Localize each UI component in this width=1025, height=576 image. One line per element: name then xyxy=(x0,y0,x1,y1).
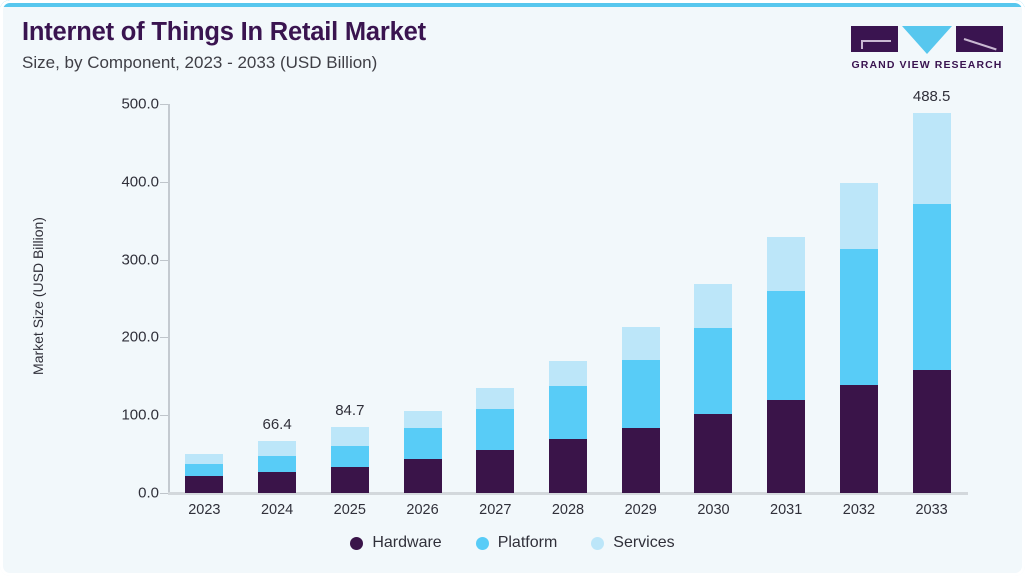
y-axis-tick-label: 400.0 xyxy=(69,173,159,190)
bar-segment-services[interactable] xyxy=(694,284,732,328)
x-axis-tick-label: 2028 xyxy=(533,502,603,518)
logo-triangle-icon xyxy=(902,26,952,54)
y-axis-title: Market Size (USD Billion) xyxy=(30,166,46,426)
logo-wordmark: GRAND VIEW RESEARCH xyxy=(851,59,1003,71)
top-accent-bar xyxy=(0,0,1025,7)
bar-segment-platform[interactable] xyxy=(476,409,514,450)
bar-group[interactable] xyxy=(694,90,732,493)
bar-value-label: 66.4 xyxy=(262,416,291,433)
legend-swatch-icon xyxy=(591,537,604,550)
y-axis-tick-mark xyxy=(160,104,168,105)
bar-group[interactable] xyxy=(622,90,660,493)
bar-segment-services[interactable] xyxy=(622,327,660,360)
grand-view-research-logo: GRAND VIEW RESEARCH xyxy=(851,26,1003,71)
bar-segment-platform[interactable] xyxy=(549,386,587,439)
bar-segment-platform[interactable] xyxy=(913,204,951,371)
legend-item-services[interactable]: Services xyxy=(591,534,674,552)
x-axis-tick-label: 2031 xyxy=(751,502,821,518)
y-axis-tick-label: 500.0 xyxy=(69,96,159,113)
legend-item-hardware[interactable]: Hardware xyxy=(350,534,441,552)
x-axis-tick-label: 2029 xyxy=(606,502,676,518)
y-axis-tick-mark xyxy=(160,182,168,183)
bar-segment-services[interactable] xyxy=(549,361,587,387)
bar-segment-platform[interactable] xyxy=(694,328,732,414)
bar-segment-services[interactable] xyxy=(767,237,805,291)
legend-label: Services xyxy=(613,534,674,552)
bar-segment-services[interactable] xyxy=(185,454,223,464)
bar-series-container: 66.484.7488.5 xyxy=(168,90,968,493)
bar-segment-hardware[interactable] xyxy=(185,476,223,493)
y-axis-tick-mark xyxy=(160,493,168,494)
bar-segment-hardware[interactable] xyxy=(476,450,514,493)
bar-segment-platform[interactable] xyxy=(622,360,660,428)
y-axis-tick-mark xyxy=(160,337,168,338)
x-axis-tick-label: 2027 xyxy=(460,502,530,518)
bar-segment-platform[interactable] xyxy=(258,456,296,472)
chart-header: Internet of Things In Retail Market Size… xyxy=(22,18,842,74)
logo-right-block-icon xyxy=(956,26,1003,52)
bar-group[interactable] xyxy=(549,90,587,493)
legend-swatch-icon xyxy=(476,537,489,550)
y-axis-tick-mark xyxy=(160,260,168,261)
bar-segment-platform[interactable] xyxy=(767,291,805,400)
page-title: Internet of Things In Retail Market xyxy=(22,18,842,47)
bar-segment-hardware[interactable] xyxy=(549,439,587,493)
bar-segment-platform[interactable] xyxy=(404,428,442,458)
x-axis-tick-label: 2023 xyxy=(169,502,239,518)
bar-group[interactable]: 84.7 xyxy=(331,90,369,493)
bar-segment-hardware[interactable] xyxy=(840,385,878,493)
bar-value-label: 84.7 xyxy=(335,402,364,419)
legend-swatch-icon xyxy=(350,537,363,550)
y-axis-tick-label: 300.0 xyxy=(69,251,159,268)
chart-legend: HardwarePlatformServices xyxy=(0,534,1025,552)
chart-card: Internet of Things In Retail Market Size… xyxy=(0,0,1025,576)
y-axis-tick-mark xyxy=(160,415,168,416)
y-axis-tick-label: 100.0 xyxy=(69,407,159,424)
x-axis-tick-label: 2032 xyxy=(824,502,894,518)
bar-segment-hardware[interactable] xyxy=(767,400,805,493)
bar-segment-services[interactable] xyxy=(913,113,951,204)
legend-item-platform[interactable]: Platform xyxy=(476,534,558,552)
bar-segment-hardware[interactable] xyxy=(913,370,951,493)
x-axis-tick-label: 2030 xyxy=(678,502,748,518)
bar-group[interactable] xyxy=(185,90,223,493)
y-axis-tick-label: 0.0 xyxy=(69,485,159,502)
bar-segment-services[interactable] xyxy=(404,411,442,428)
chart-subtitle: Size, by Component, 2023 - 2033 (USD Bil… xyxy=(22,53,842,73)
bar-group[interactable] xyxy=(404,90,442,493)
bar-group[interactable] xyxy=(767,90,805,493)
logo-marks xyxy=(851,26,1003,54)
bar-segment-services[interactable] xyxy=(476,388,514,409)
x-axis-tick-label: 2024 xyxy=(242,502,312,518)
bar-segment-hardware[interactable] xyxy=(331,467,369,493)
bar-segment-hardware[interactable] xyxy=(404,459,442,493)
x-axis-tick-label: 2025 xyxy=(315,502,385,518)
bar-group[interactable] xyxy=(840,90,878,493)
bar-segment-services[interactable] xyxy=(258,441,296,455)
bar-group[interactable]: 488.5 xyxy=(913,90,951,493)
bar-segment-services[interactable] xyxy=(331,427,369,445)
bar-segment-platform[interactable] xyxy=(185,464,223,476)
bar-group[interactable]: 66.4 xyxy=(258,90,296,493)
legend-label: Platform xyxy=(498,534,558,552)
plot-area: Market Size (USD Billion) 500.0400.0300.… xyxy=(0,90,1025,510)
logo-left-block-icon xyxy=(851,26,898,52)
bar-segment-platform[interactable] xyxy=(840,249,878,385)
bar-segment-hardware[interactable] xyxy=(258,472,296,493)
bar-segment-services[interactable] xyxy=(840,183,878,249)
bar-segment-hardware[interactable] xyxy=(622,428,660,493)
y-axis-tick-label: 200.0 xyxy=(69,329,159,346)
bar-group[interactable] xyxy=(476,90,514,493)
bar-segment-platform[interactable] xyxy=(331,446,369,467)
legend-label: Hardware xyxy=(372,534,441,552)
x-axis-tick-label: 2033 xyxy=(897,502,967,518)
x-axis-tick-label: 2026 xyxy=(388,502,458,518)
bar-segment-hardware[interactable] xyxy=(694,414,732,493)
bar-value-label: 488.5 xyxy=(913,88,951,105)
